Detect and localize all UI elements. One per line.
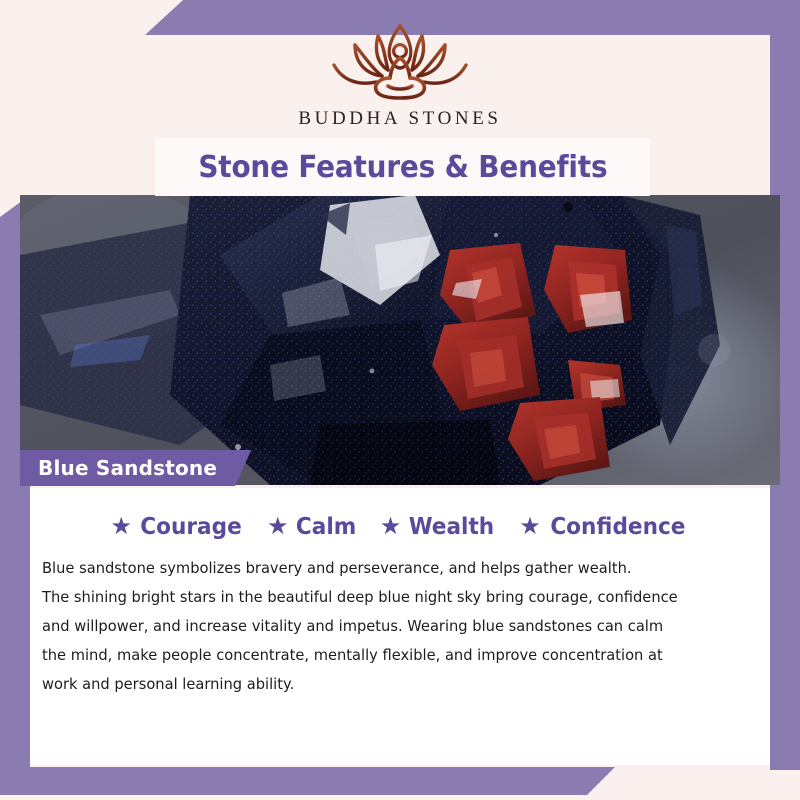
description-line: the mind, make people concentrate, menta… bbox=[42, 641, 729, 670]
title-banner: Stone Features & Benefits bbox=[155, 138, 650, 196]
star-icon: ★ bbox=[111, 515, 133, 539]
page-title: Stone Features & Benefits bbox=[198, 150, 607, 185]
star-icon: ★ bbox=[519, 515, 541, 539]
description-line: work and personal learning ability. bbox=[42, 670, 729, 699]
keyword-label: Courage bbox=[140, 514, 242, 540]
description-line: Blue sandstone symbolizes bravery and pe… bbox=[42, 554, 729, 583]
keyword-item-confidence: ★ Confidence bbox=[519, 514, 689, 540]
stone-name-tag: Blue Sandstone bbox=[20, 450, 251, 486]
brand-logo: BUDDHA STONES bbox=[0, 18, 800, 130]
star-icon: ★ bbox=[380, 515, 402, 539]
description-line: and willpower, and increase vitality and… bbox=[42, 612, 729, 641]
keyword-item-courage: ★ Courage bbox=[111, 514, 246, 540]
keyword-label: Confidence bbox=[550, 514, 685, 540]
stone-photo-illustration bbox=[20, 195, 780, 485]
benefits-card: ★ Courage ★ Calm ★ Wealth ★ Confidence B… bbox=[30, 488, 770, 765]
description-line: The shining bright stars in the beautifu… bbox=[42, 583, 729, 612]
keyword-item-wealth: ★ Wealth bbox=[380, 514, 497, 540]
keyword-label: Calm bbox=[295, 514, 355, 540]
lotus-meditation-figure-icon bbox=[322, 18, 478, 104]
keyword-list: ★ Courage ★ Calm ★ Wealth ★ Confidence bbox=[30, 514, 770, 540]
star-icon: ★ bbox=[267, 515, 289, 539]
brand-name: BUDDHA STONES bbox=[298, 108, 501, 130]
frame-band-bottom bbox=[0, 767, 615, 795]
stone-photo bbox=[20, 195, 780, 485]
keyword-label: Wealth bbox=[409, 514, 494, 540]
description-text: Blue sandstone symbolizes bravery and pe… bbox=[42, 554, 729, 699]
stone-name-label: Blue Sandstone bbox=[38, 456, 217, 480]
keyword-item-calm: ★ Calm bbox=[267, 514, 358, 540]
